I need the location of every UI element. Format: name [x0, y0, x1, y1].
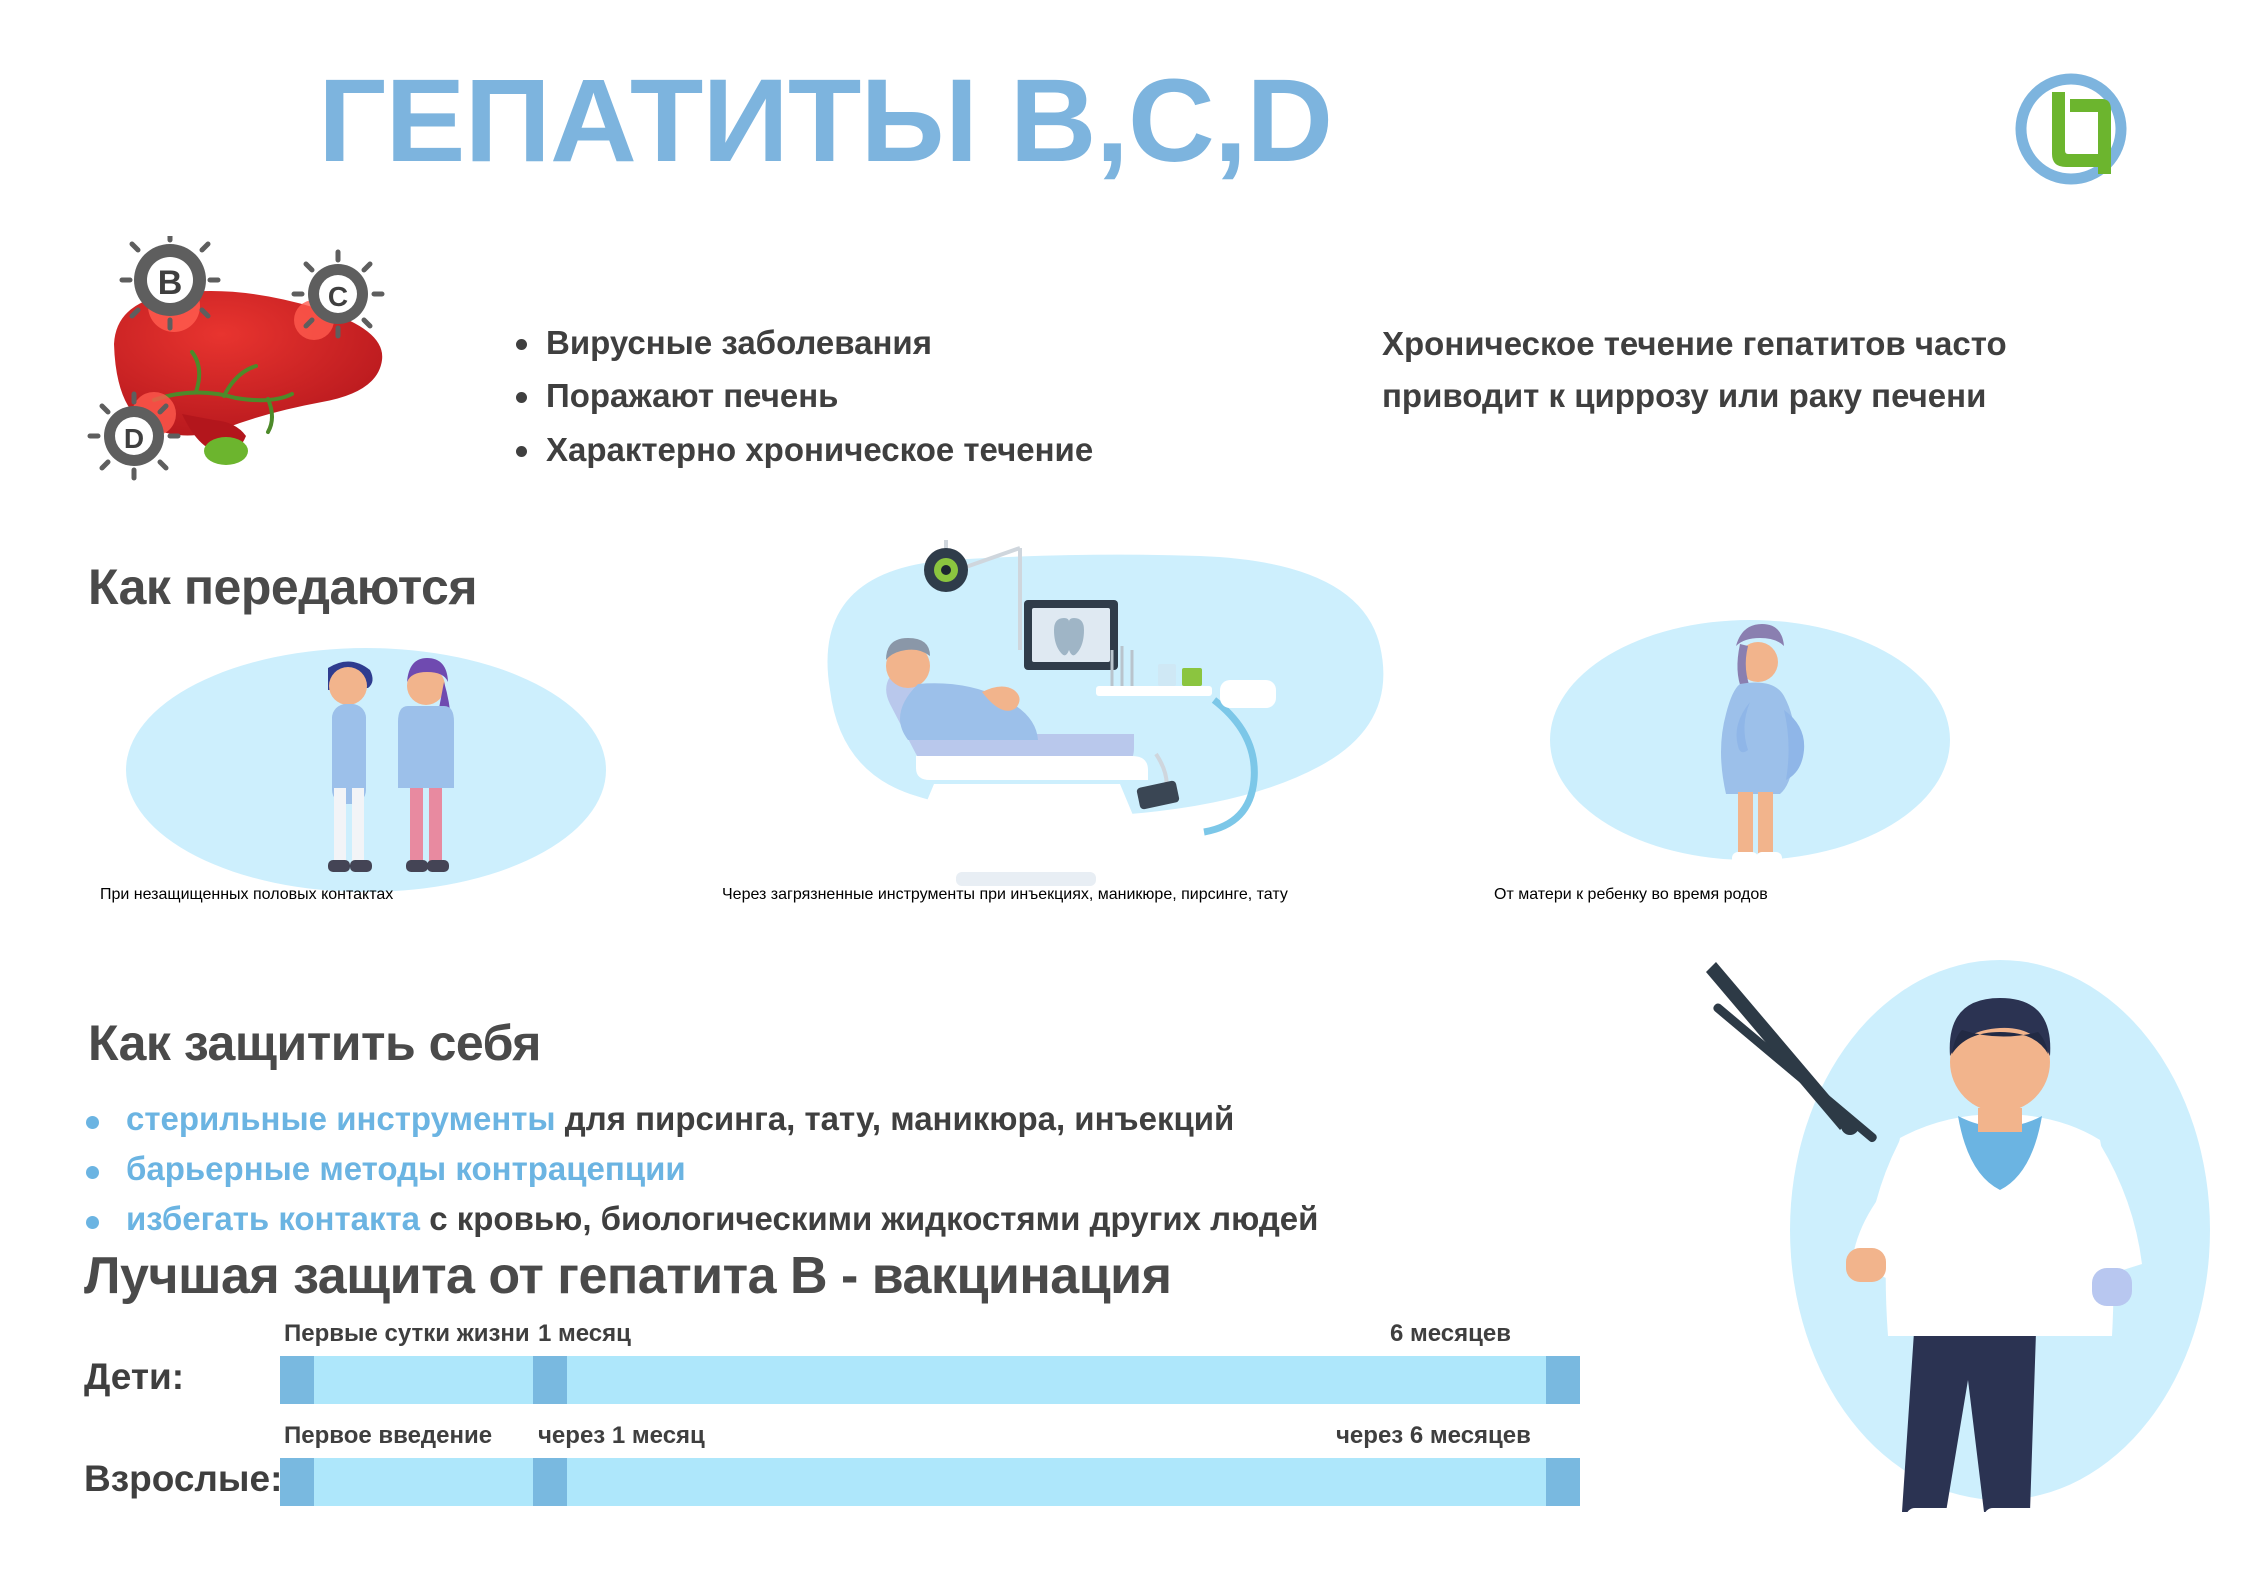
section-heading-transmission: Как передаются [88, 558, 477, 616]
virus-d-icon: D [90, 394, 178, 478]
list-item: стерильные инструменты для пирсинга, тат… [82, 1094, 1702, 1144]
infographic-poster: ГЕПАТИТЫ B,C,D [0, 0, 2244, 1586]
timeline-marker [1546, 1458, 1580, 1506]
svg-text:D: D [124, 423, 144, 454]
protection-rest: для пирсинга, тату, маникюра, инъекций [556, 1100, 1235, 1137]
dental-chair-icon [720, 540, 1440, 920]
liver-illustration: B C [86, 236, 406, 506]
section-heading-vaccination: Лучшая защита от гепатита B - вакцинация [84, 1246, 1172, 1306]
transmission-caption-instruments: Через загрязненные инструменты при инъек… [722, 886, 1462, 904]
timeline-tick-label: 1 месяц [538, 1320, 631, 1348]
timeline-tick-label: Первые сутки жизни [284, 1320, 530, 1348]
timeline-tick-label: 6 месяцев [1390, 1320, 1511, 1348]
vaccination-timeline-bar: Первые сутки жизни 1 месяц 6 месяцев [280, 1356, 1580, 1404]
virus-c-icon: C [294, 252, 382, 336]
protection-rest: с кровью, биологическими жидкостями друг… [420, 1200, 1318, 1237]
bullet-dot-icon [86, 1166, 99, 1179]
pregnant-woman-icon [1500, 600, 2220, 900]
intro-note: Хроническое течение гепатитов часто прив… [1382, 318, 2122, 422]
list-item-label: Характерно хроническое течение [546, 431, 1093, 468]
section-heading-protection: Как защитить себя [88, 1014, 541, 1072]
timeline-marker [280, 1356, 314, 1404]
timeline-marker [533, 1458, 567, 1506]
list-item-label: Поражают печень [546, 377, 838, 414]
bullet-dot-icon [86, 1116, 99, 1129]
bullet-dot-icon [516, 446, 527, 457]
page-title: ГЕПАТИТЫ B,C,D [318, 62, 1332, 180]
protection-highlight: избегать контакта [126, 1200, 420, 1237]
bullet-dot-icon [516, 339, 527, 350]
svg-text:B: B [158, 264, 183, 302]
transmission-caption-couple: При незащищенных половых контактах [100, 886, 720, 904]
protection-bullet-list: стерильные инструменты для пирсинга, тат… [82, 1094, 1702, 1244]
list-item: Поражают печень [508, 369, 1328, 422]
list-item: избегать контакта с кровью, биологически… [82, 1194, 1702, 1244]
virus-b-icon: B [122, 236, 218, 328]
timeline-marker [280, 1458, 314, 1506]
timeline-marker [533, 1356, 567, 1404]
list-item: барьерные методы контрацепции [82, 1144, 1702, 1194]
bullet-dot-icon [86, 1216, 99, 1229]
protection-highlight: стерильные инструменты [126, 1100, 556, 1137]
list-item: Характерно хроническое течение [508, 423, 1328, 476]
timeline-tick-label: через 1 месяц [538, 1422, 705, 1450]
transmission-item-couple [96, 620, 736, 925]
clinic-logo [2012, 70, 2130, 188]
doctor-with-pointer-icon [1700, 930, 2240, 1580]
intro-bullet-list: Вирусные заболевания Поражают печень Хар… [508, 316, 1328, 476]
transmission-item-mother-child [1500, 600, 2220, 905]
vaccination-timeline-bar: Первое введение через 1 месяц через 6 ме… [280, 1458, 1580, 1506]
bullet-dot-icon [516, 392, 527, 403]
timeline-marker [1546, 1356, 1580, 1404]
list-item-label: Вирусные заболевания [546, 324, 932, 361]
protection-highlight: барьерные методы контрацепции [126, 1150, 686, 1187]
vaccination-row-label: Дети: [84, 1356, 184, 1398]
list-item: Вирусные заболевания [508, 316, 1328, 369]
vaccination-row-label: Взрослые: [84, 1458, 282, 1500]
transmission-caption-mother-child: От матери к ребенку во время родов [1494, 886, 2214, 904]
timeline-tick-label: через 6 месяцев [1336, 1422, 1531, 1450]
couple-icon [96, 620, 736, 920]
transmission-item-instruments [720, 540, 1440, 925]
svg-text:C: C [328, 281, 348, 312]
timeline-tick-label: Первое введение [284, 1422, 492, 1450]
